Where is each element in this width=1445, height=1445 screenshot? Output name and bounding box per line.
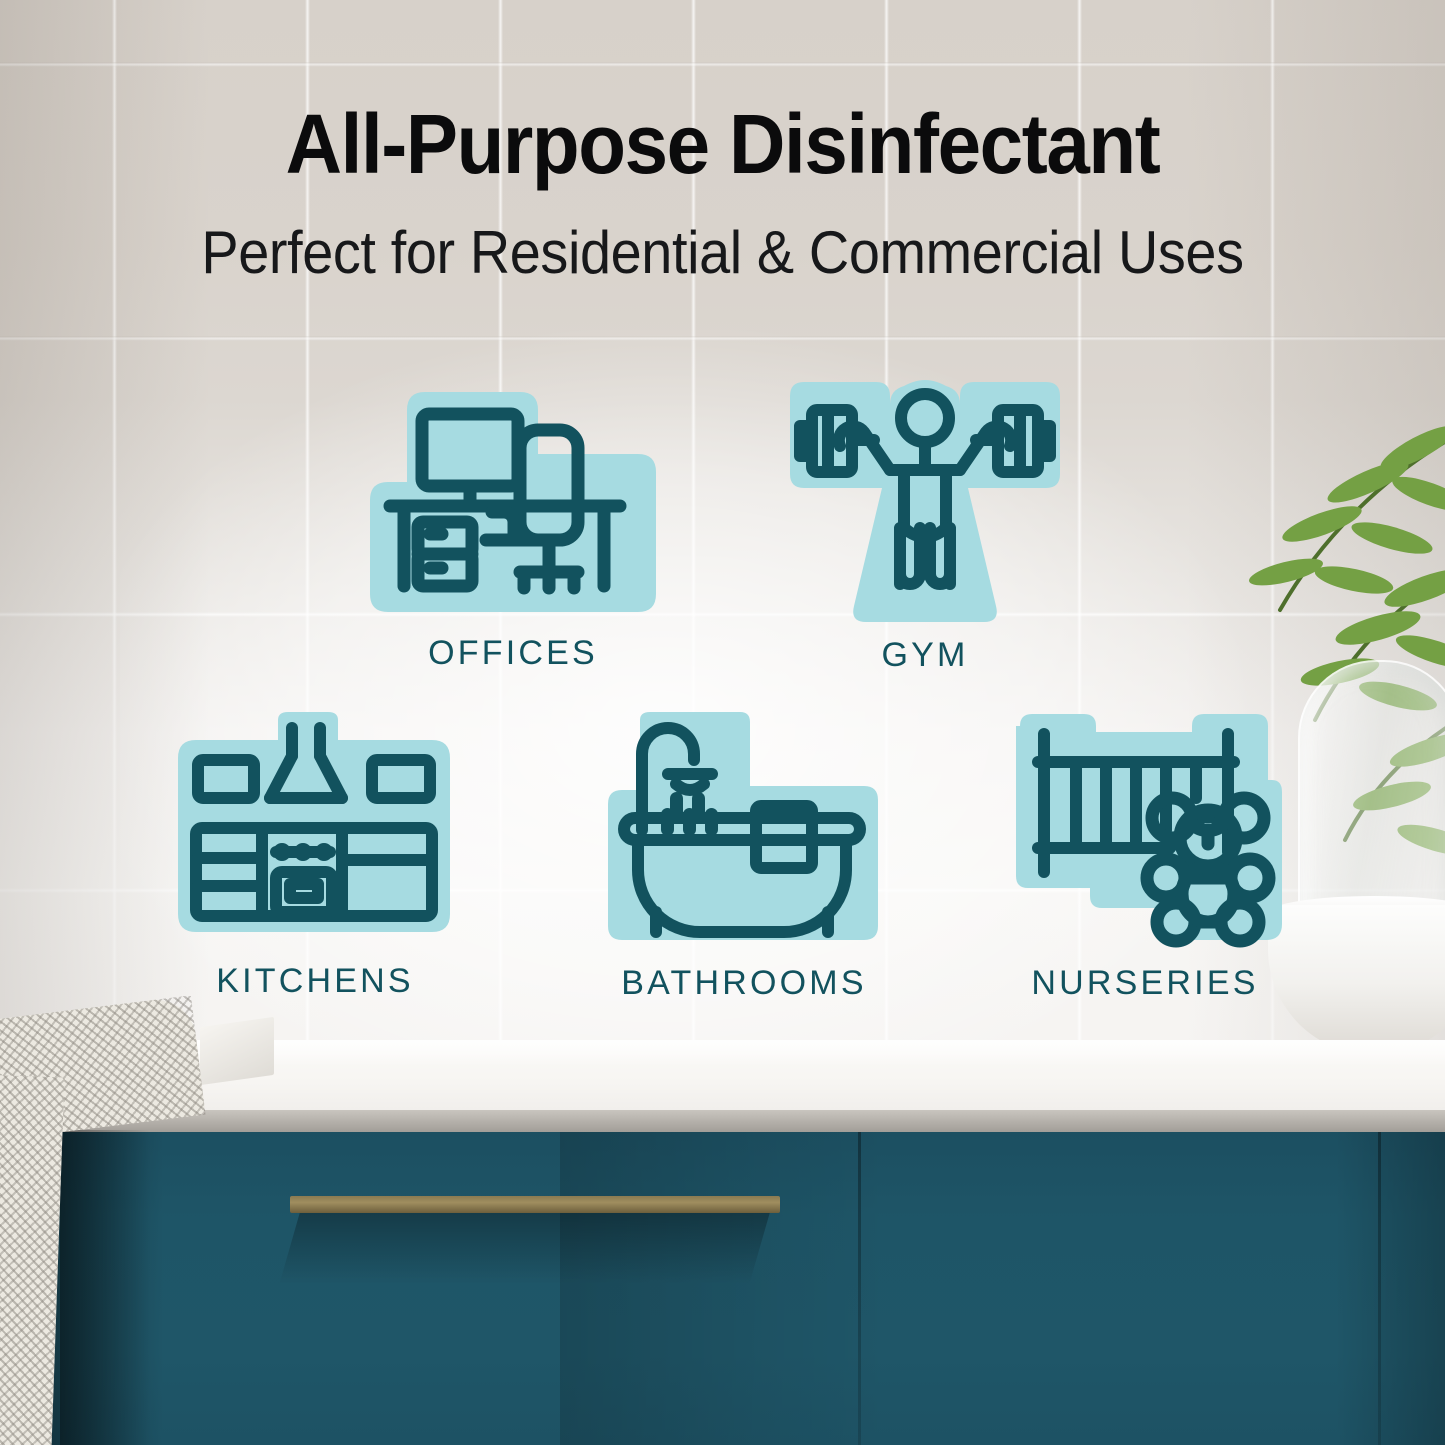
label-bathrooms: BATHROOMS xyxy=(534,964,954,1003)
cabinet-seam xyxy=(858,1132,861,1445)
label-nurseries: NURSERIES xyxy=(935,964,1355,1003)
cabinet-bar-handle[interactable] xyxy=(290,1196,780,1213)
towel-hanging-part xyxy=(0,1075,64,1445)
cabinet-shade-right xyxy=(1335,1132,1445,1445)
use-case-bathrooms[interactable]: BATHROOMS xyxy=(606,712,882,952)
label-gym: GYM xyxy=(715,636,1135,675)
towel-texture xyxy=(0,1075,64,1445)
use-case-kitchens[interactable]: KITCHENS xyxy=(170,712,460,950)
product-infographic: All-Purpose Disinfectant Perfect for Res… xyxy=(0,0,1445,1445)
use-case-gym[interactable]: GYM xyxy=(772,378,1078,630)
weightlifter-barbell-icon xyxy=(772,378,1078,630)
use-case-nurseries[interactable]: NURSERIES xyxy=(1006,712,1284,952)
crib-teddy-bear-icon xyxy=(1006,712,1284,952)
page-title: All-Purpose Disinfectant xyxy=(51,96,1395,193)
page-subtitle: Perfect for Residential & Commercial Use… xyxy=(51,218,1395,287)
label-offices: OFFICES xyxy=(303,634,723,673)
office-desk-chair-icon xyxy=(352,382,674,630)
kitchen-towel xyxy=(0,996,239,1445)
bathtub-shower-icon xyxy=(606,712,882,952)
use-case-offices[interactable]: OFFICES xyxy=(352,382,674,630)
handle-shadow xyxy=(279,1212,770,1284)
kitchen-cabinets-stove-icon xyxy=(170,712,460,950)
cabinet-shadow xyxy=(560,1132,890,1445)
